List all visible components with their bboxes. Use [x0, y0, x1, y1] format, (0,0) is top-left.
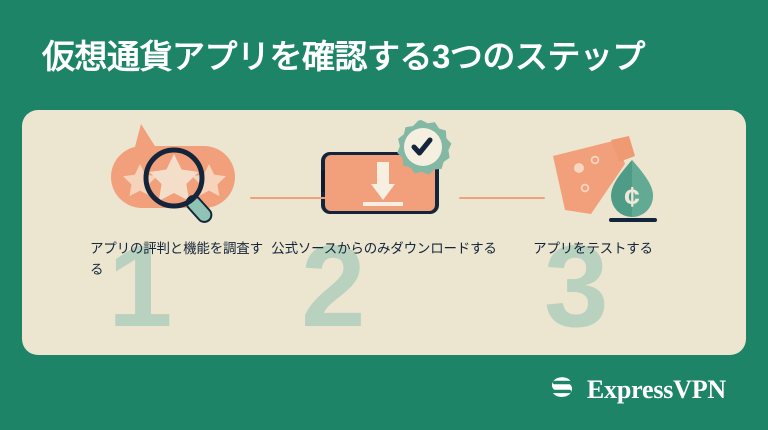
- infographic-root: 仮想通貨アプリを確認する3つのステップ: [0, 0, 768, 430]
- step-caption-2: 公式ソースからのみダウンロードする: [269, 238, 499, 259]
- connector-2-to-3: [459, 197, 545, 199]
- step-item-2: 2 公式ソースからのみダウンロードする: [269, 110, 499, 355]
- page-title: 仮想通貨アプリを確認する3つのステップ: [42, 36, 732, 78]
- expressvpn-logo: ExpressVPN: [546, 371, 726, 408]
- expressvpn-wordmark: ExpressVPN: [587, 375, 726, 405]
- steps-card: 1 アプリの評判と機能を調査する: [22, 110, 746, 355]
- svg-text:¢: ¢: [624, 181, 640, 212]
- step-caption-3: アプリをテストする: [478, 238, 708, 259]
- phone-download-verified-badge-icon: [269, 118, 499, 233]
- expressvpn-e-icon: [546, 371, 578, 408]
- step-item-3: ¢ 3 アプリをテストする: [478, 110, 708, 355]
- flask-crypto-droplet-icon: ¢: [478, 118, 708, 233]
- speech-bubble-stars-magnifier-icon: [60, 118, 290, 233]
- step-item-1: 1 アプリの評判と機能を調査する: [60, 110, 290, 355]
- steps-container: 1 アプリの評判と機能を調査する: [22, 110, 746, 355]
- connector-1-to-2: [250, 197, 336, 199]
- step-caption-1: アプリの評判と機能を調査する: [90, 238, 270, 280]
